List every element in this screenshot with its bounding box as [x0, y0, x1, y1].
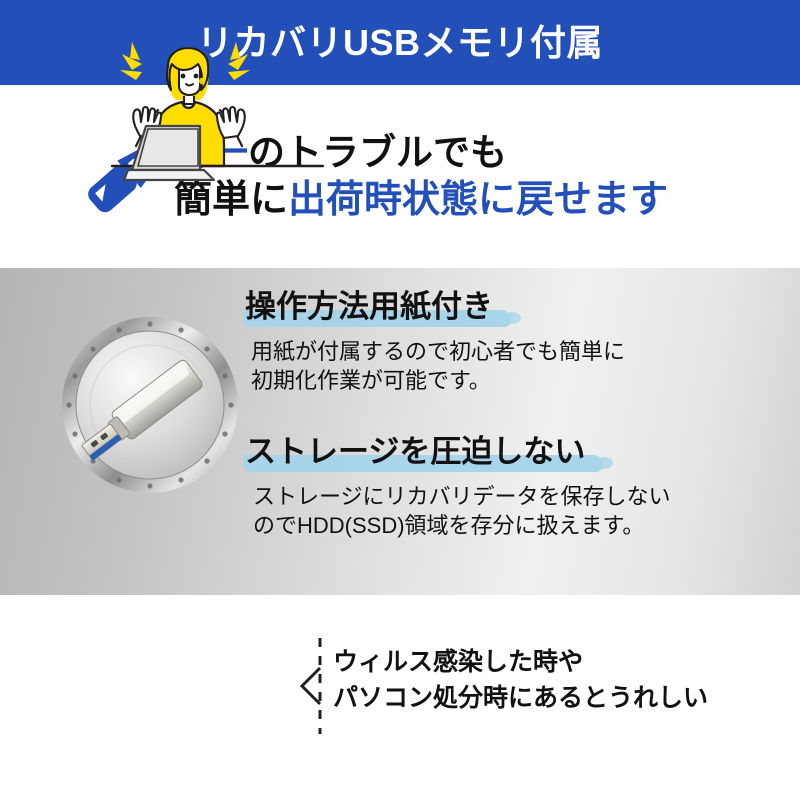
product-photo-badge	[55, 310, 245, 500]
woman-at-laptop-illustration	[110, 14, 325, 194]
sparkle-left	[120, 42, 142, 80]
feature-2-body-line2: のでHDD(SSD)領域を存分に扱えます。	[253, 511, 671, 540]
bottom-caption-line1: ウィルス感染した時や	[333, 644, 708, 680]
feature-item-1: 操作方法用紙付き 用紙が付属するので初心者でも簡単に 初期化作業が可能です。	[243, 288, 625, 395]
feature-1-heading-text: 操作方法用紙付き	[245, 289, 493, 324]
feature-2-body: ストレージにリカバリデータを保存しない のでHDD(SSD)領域を存分に扱えます…	[243, 482, 671, 540]
feature-2-heading: ストレージを圧迫しない	[243, 433, 589, 474]
dashed-pointer-brace	[292, 636, 332, 736]
feature-1-heading: 操作方法用紙付き	[243, 288, 497, 329]
hero-headline-accent2: 出荷時状態に戻せます	[288, 179, 668, 221]
feature-2-heading-text: ストレージを圧迫しない	[245, 434, 585, 469]
features-section: 操作方法用紙付き 用紙が付属するので初心者でも簡単に 初期化作業が可能です。 ス…	[0, 268, 800, 595]
feature-1-body-line2: 初期化作業が可能です。	[251, 366, 625, 395]
bottom-caption-line2: パソコン処分時にあるとうれしい	[333, 680, 708, 716]
bottom-caption: ウィルス感染した時や パソコン処分時にあるとうれしい	[333, 644, 708, 717]
sparkle-right	[228, 42, 250, 80]
feature-item-2: ストレージを圧迫しない ストレージにリカバリデータを保存しない のでHDD(SS…	[243, 433, 671, 540]
feature-1-body-line1: 用紙が付属するので初心者でも簡単に	[251, 337, 625, 366]
feature-2-body-line1: ストレージにリカバリデータを保存しない	[253, 482, 671, 511]
feature-1-body: 用紙が付属するので初心者でも簡単に 初期化作業が可能です。	[243, 337, 625, 395]
